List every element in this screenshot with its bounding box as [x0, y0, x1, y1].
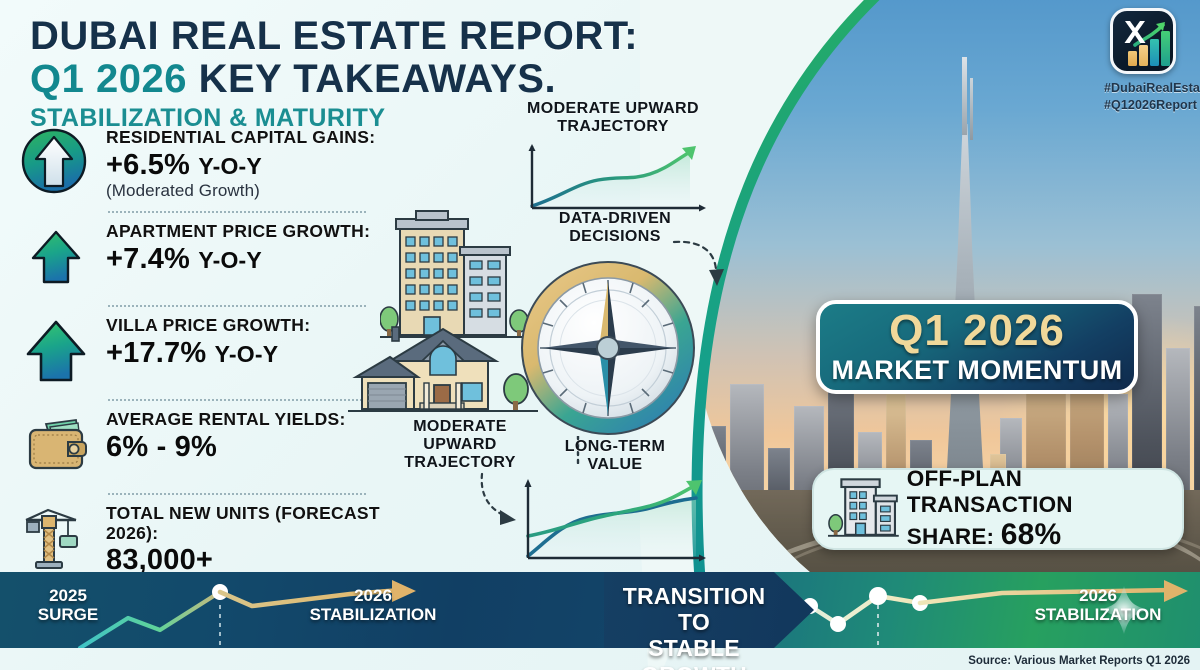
bottom-banner: 2025 SURGE 2026 STABILIZATION [0, 572, 1200, 648]
stat-divider [108, 399, 366, 401]
hashtag-1: #DubaiRealEstate [1104, 80, 1182, 97]
stat-divider [108, 493, 366, 495]
off-plan-line-1: OFF-PLAN TRANSACTION [907, 466, 1182, 518]
villa-house-illustration [348, 315, 538, 425]
title-line-2: Q1 2026 KEY TAKEAWAYS. [30, 57, 690, 102]
caption-moderate-upward-trajectory-bottom: MODERATE UPWARD TRAJECTORY [394, 418, 526, 473]
stat-value-number: +6.5% [106, 149, 190, 181]
crane-icon [16, 504, 96, 574]
up-arrow-icon [16, 316, 96, 386]
off-plan-line-2: SHARE: 68% [907, 518, 1182, 553]
banner-label-2026-stabilization-right: 2026 STABILIZATION [1000, 586, 1196, 625]
circle-up-arrow-icon [16, 128, 96, 198]
off-plan-share-label: SHARE: [907, 524, 994, 549]
x-barchart-logo-icon[interactable] [1110, 8, 1176, 74]
off-plan-share-value: 68% [1001, 518, 1062, 551]
off-plan-transaction-share-badge[interactable]: OFF-PLAN TRANSACTION SHARE: 68% [812, 468, 1184, 550]
off-plan-text: OFF-PLAN TRANSACTION SHARE: 68% [907, 466, 1182, 553]
banner-label-2026-stabilization-left: 2026 STABILIZATION [258, 586, 488, 625]
source-note: Source: Various Market Reports Q1 2026 [968, 655, 1190, 667]
stat-value-suffix: Y-O-Y [198, 153, 262, 179]
stat-value-suffix: Y-O-Y [198, 247, 262, 273]
up-arrow-icon [16, 222, 96, 292]
stat-value-number: +17.7% [106, 337, 206, 369]
q1-market-momentum-badge[interactable]: Q1 2026 MARKET MOMENTUM [816, 300, 1138, 394]
wallet-icon [16, 410, 96, 480]
caption-long-term-value: LONG-TERM VALUE [540, 438, 690, 474]
mid-illustrations: MODERATE UPWARD TRAJECTORY DATA-DRIVEN D… [330, 100, 730, 570]
hashtags: #DubaiRealEstate #Q12026Report [1104, 80, 1182, 113]
badge-q1-title: Q1 2026 [889, 309, 1065, 353]
stat-value-number: +7.4% [106, 243, 190, 275]
caption-moderate-upward-trajectory-top: MODERATE UPWARD TRAJECTORY [508, 100, 718, 136]
stat-value-suffix: Y-O-Y [215, 341, 279, 367]
chart-moderate-upward-trajectory-bottom [510, 478, 710, 570]
infographic-root: DUBAI REAL ESTATE REPORT: Q1 2026 KEY TA… [0, 0, 1200, 670]
banner-label-transition-to-stable-growth: TRANSITION TO STABLE GROWTH [604, 583, 784, 670]
title-quarter: Q1 2026 [30, 57, 187, 101]
banner-label-2025-surge: 2025 SURGE [18, 586, 118, 625]
stat-divider [108, 211, 366, 213]
hashtag-2: #Q12026Report [1104, 97, 1182, 114]
title-line-2-rest: KEY TAKEAWAYS. [199, 57, 556, 101]
stat-divider [108, 305, 366, 307]
office-building-icon [828, 476, 899, 542]
title-line-1: DUBAI REAL ESTATE REPORT: [30, 16, 690, 57]
badge-q1-subtitle: MARKET MOMENTUM [832, 356, 1123, 386]
compass-icon [515, 255, 701, 441]
branding-block: #DubaiRealEstate #Q12026Report [1104, 8, 1182, 113]
